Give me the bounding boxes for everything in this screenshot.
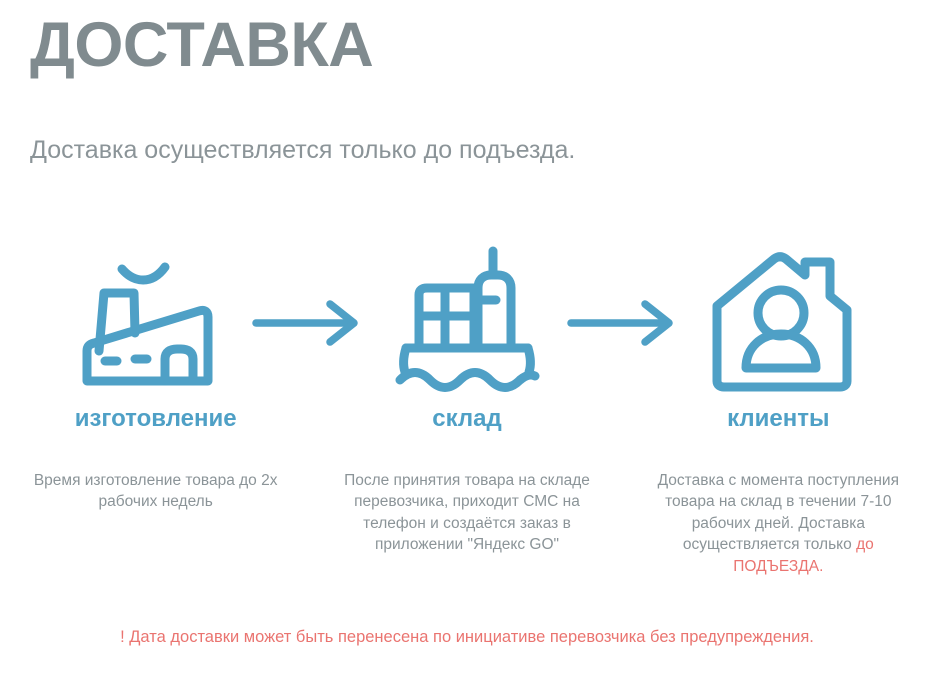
step-description-text: После принятия товара на складе перевозч… (344, 472, 590, 553)
step-descriptions-row: Время изготовление товара до 2х рабочих … (0, 470, 934, 577)
house-client-icon (700, 246, 865, 401)
cargo-ship-icon (385, 246, 550, 401)
step-description-text: Время изготовление товара до 2х рабочих … (34, 472, 278, 510)
page-subtitle: Доставка осуществляется только до подъез… (30, 134, 650, 167)
step-description-manufacturing: Время изготовление товара до 2х рабочих … (0, 470, 311, 513)
step-label-manufacturing: изготовление (0, 405, 311, 434)
factory-icon (70, 246, 235, 401)
footer-warning-note: ! Дата доставки может быть перенесена по… (0, 626, 934, 649)
step-labels-row: изготовление склад клиенты (0, 405, 934, 434)
step-label-warehouse: склад (311, 405, 622, 434)
page-title: ДОСТАВКА (30, 12, 373, 78)
arrow-right-icon-2 (550, 293, 700, 353)
step-description-clients: Доставка с момента поступления товара на… (623, 470, 934, 577)
arrow-right-icon-1 (235, 293, 385, 353)
delivery-flow-diagram (0, 243, 934, 403)
step-description-warehouse: После принятия товара на складе перевозч… (311, 470, 622, 556)
delivery-slide: ДОСТАВКА Доставка осуществляется только … (0, 0, 934, 700)
step-label-clients: клиенты (623, 405, 934, 434)
